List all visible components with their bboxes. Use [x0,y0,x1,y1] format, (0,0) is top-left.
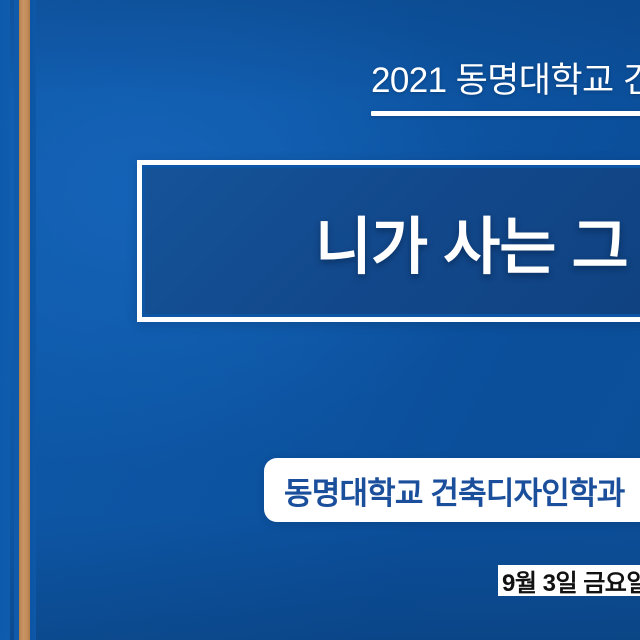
subtitle-pill: 동명대학교 건축디자인학과 [264,458,640,522]
headline-text: 니가 사는 그 집 [315,196,640,286]
subtitle-text: 동명대학교 건축디자인학과 [284,468,624,513]
date-strip: 9월 3일 금요일 [498,565,640,596]
title-underline [371,111,640,116]
headline-inner-panel: 니가 사는 그 집 [142,165,640,317]
date-text: 9월 3일 금요일 [502,563,640,598]
stripe-tan [19,0,30,640]
stripe-blue-edge [0,0,10,640]
poster-slide: 2021 동명대학교 건축디자인학과 니가 사는 그 집 동명대학교 건축디자인… [0,0,640,640]
page-title: 2021 동명대학교 건축디자인학과 [371,60,640,102]
header-title-block: 2021 동명대학교 건축디자인학과 [371,60,640,116]
headline-frame: 니가 사는 그 집 [137,160,640,322]
stripe-trailing-blue [30,0,36,640]
